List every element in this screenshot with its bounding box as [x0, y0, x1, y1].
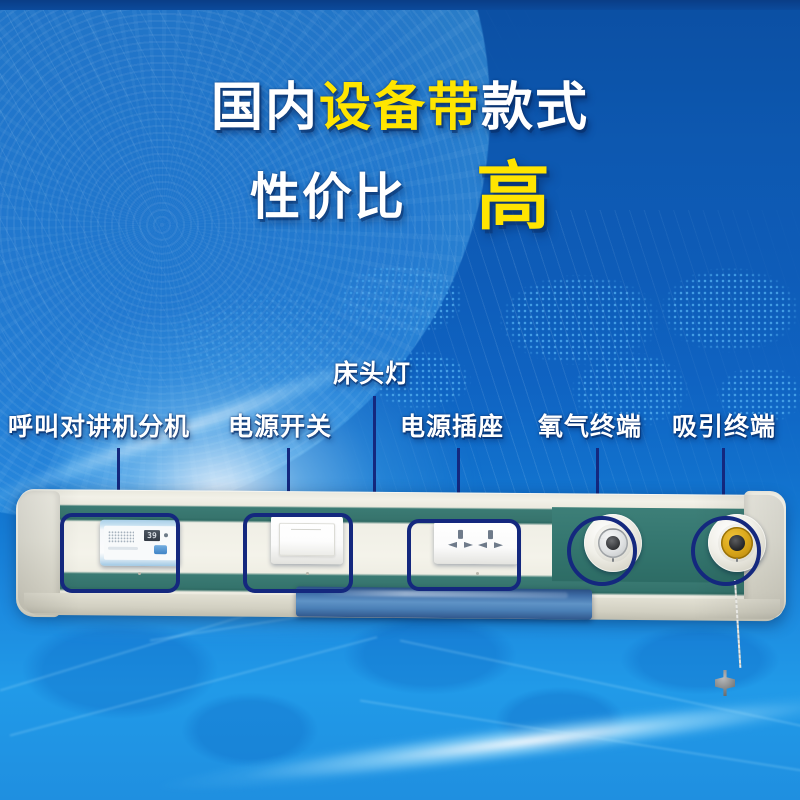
headline-part-3: 款式	[481, 79, 589, 137]
highlight-box-power-socket	[407, 519, 521, 591]
headline-line-2: 性价比 高	[0, 160, 800, 234]
callout-label-oxygen-terminal: 氧气终端	[538, 415, 642, 440]
highlight-circle-oxygen	[567, 516, 637, 586]
value-for-money-text: 性价比	[250, 172, 406, 222]
headline-line-1: 国内设备带款式	[0, 82, 800, 134]
highlight-box-power-switch	[243, 513, 353, 593]
highlight-circle-suction	[691, 516, 761, 586]
callout-label-bedside-lamp: 床头灯	[333, 362, 411, 387]
headline-part-2: 设备带	[319, 79, 481, 137]
headline-part-1: 国内	[211, 79, 319, 137]
promotional-banner: 国内设备带款式 性价比 高 呼叫对讲机分机 电源开关 床头灯 电源插座 氧气终端…	[0, 0, 800, 800]
high-text: 高	[476, 160, 550, 234]
callout-label-suction-terminal: 吸引终端	[672, 415, 776, 440]
top-edge-band	[0, 0, 800, 10]
highlight-box-intercom	[60, 513, 180, 593]
callout-label-power-socket: 电源插座	[400, 415, 504, 440]
headline-block: 国内设备带款式	[0, 82, 800, 134]
callout-label-power-switch: 电源开关	[228, 415, 332, 440]
callout-label-nurse-call-intercom: 呼叫对讲机分机	[8, 415, 190, 440]
